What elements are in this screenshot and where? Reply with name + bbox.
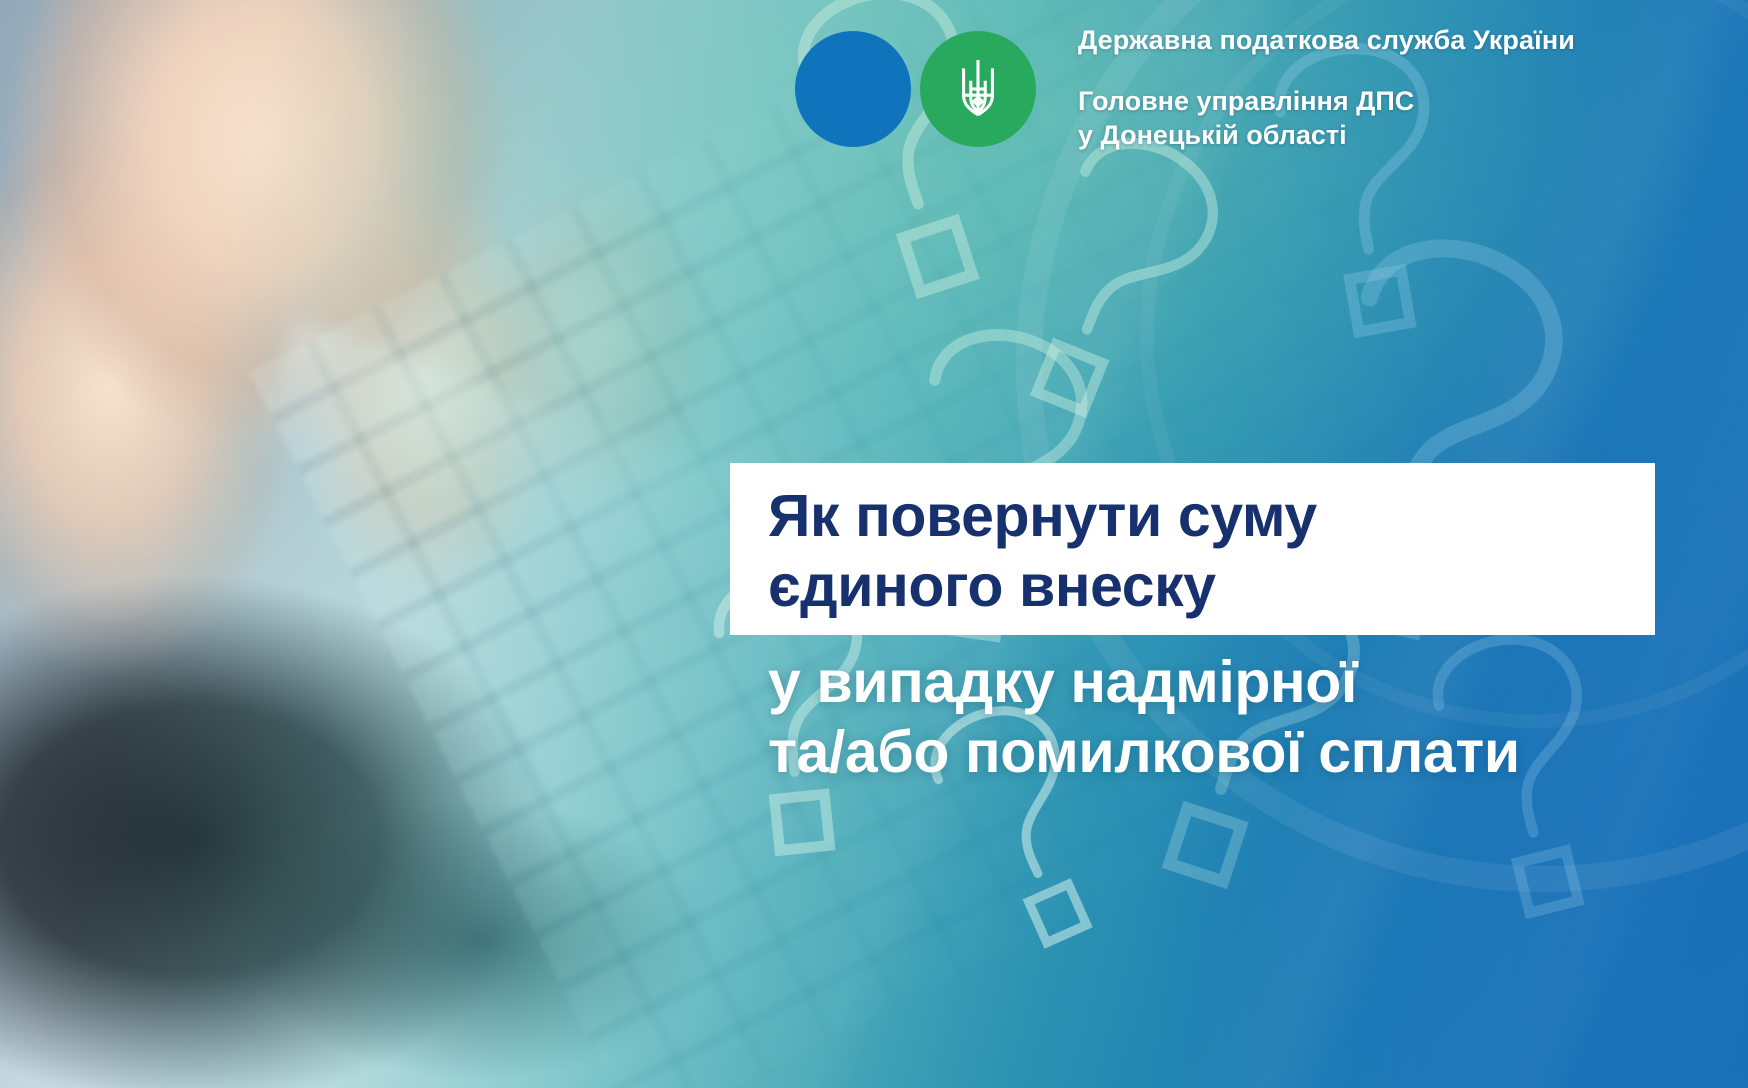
dps-logo [795, 31, 1036, 147]
banner-root: Державна податкова служба України Головн… [0, 0, 1748, 1088]
logo-dot-green [920, 31, 1036, 147]
ukraine-trident-icon [952, 57, 1004, 121]
organization-name: Державна податкова служба України [1078, 26, 1575, 56]
title-line-primary: Як повернути суму єдиного внеску [768, 481, 1668, 621]
logo-dot-blue [795, 31, 911, 147]
department-name: Головне управління ДПС у Донецькій облас… [1078, 84, 1575, 153]
title-line-secondary: у випадку надмірної та/або помилкової сп… [768, 647, 1728, 787]
organization-header: Державна податкова служба України Головн… [1078, 26, 1575, 152]
